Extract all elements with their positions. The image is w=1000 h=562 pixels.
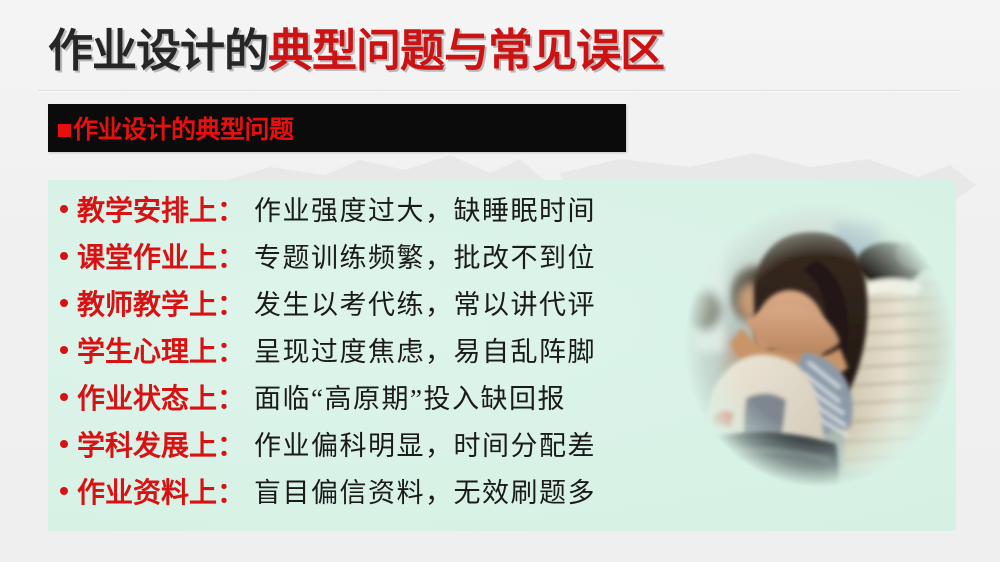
slide-canvas: 作业设计的典型问题与常见误区 作业设计的典型问题 教学安排上： 作业强度过大，缺…	[0, 0, 1000, 562]
section-header-bar: 作业设计的典型问题	[48, 104, 626, 152]
list-item-label: 作业状态上：	[77, 377, 245, 417]
list-item: 作业状态上： 面临“高原期”投入缺回报	[60, 377, 720, 424]
list-item: 作业资料上： 盲目偏信资料，无效刷题多	[60, 471, 720, 518]
bullet-dot-icon	[60, 487, 68, 495]
list-item-label: 学科发展上：	[77, 424, 245, 464]
list-item-label: 学生心理上：	[77, 330, 245, 370]
bullet-dot-icon	[60, 346, 68, 354]
bullet-dot-icon	[60, 205, 68, 213]
list-item-label: 课堂作业上：	[77, 236, 245, 276]
title-divider	[38, 90, 960, 91]
list-item-label: 教学安排上：	[77, 189, 245, 229]
list-item-text: 盲目偏信资料，无效刷题多	[254, 471, 596, 510]
list-item-label: 教师教学上：	[77, 283, 245, 323]
list-item: 课堂作业上： 专题训练频繁，批改不到位	[60, 236, 720, 283]
bullet-dot-icon	[60, 393, 68, 401]
list-item-text: 面临“高原期”投入缺回报	[254, 377, 566, 416]
list-item-text: 专题训练频繁，批改不到位	[254, 236, 596, 275]
tired-student-photo	[684, 202, 954, 487]
list-item-text: 呈现过度焦虑，易自乱阵脚	[254, 330, 596, 369]
page-title-red-part: 典型问题与常见误区	[268, 25, 664, 76]
page-title-dark-part: 作业设计的	[48, 25, 268, 76]
bullet-dot-icon	[60, 440, 68, 448]
section-header-label: 作业设计的典型问题	[73, 116, 294, 144]
bullet-dot-icon	[60, 252, 68, 260]
content-panel: 教学安排上： 作业强度过大，缺睡眠时间 课堂作业上： 专题训练频繁，批改不到位 …	[48, 180, 956, 531]
list-item: 教师教学上： 发生以考代练，常以讲代评	[60, 283, 720, 330]
list-item-text: 作业偏科明显，时间分配差	[254, 424, 596, 463]
list-item-label: 作业资料上：	[77, 471, 245, 511]
page-title: 作业设计的典型问题与常见误区	[48, 22, 664, 80]
list-item: 教学安排上： 作业强度过大，缺睡眠时间	[60, 189, 720, 236]
square-bullet-icon	[58, 124, 71, 137]
section-header-label-wrap: 作业设计的典型问题	[58, 110, 294, 146]
list-item-text: 作业强度过大，缺睡眠时间	[254, 189, 596, 228]
list-item-text: 发生以考代练，常以讲代评	[254, 283, 596, 322]
list-item: 学科发展上： 作业偏科明显，时间分配差	[60, 424, 720, 471]
bullet-list: 教学安排上： 作业强度过大，缺睡眠时间 课堂作业上： 专题训练频繁，批改不到位 …	[60, 189, 720, 518]
list-item: 学生心理上： 呈现过度焦虑，易自乱阵脚	[60, 330, 720, 377]
bullet-dot-icon	[60, 299, 68, 307]
